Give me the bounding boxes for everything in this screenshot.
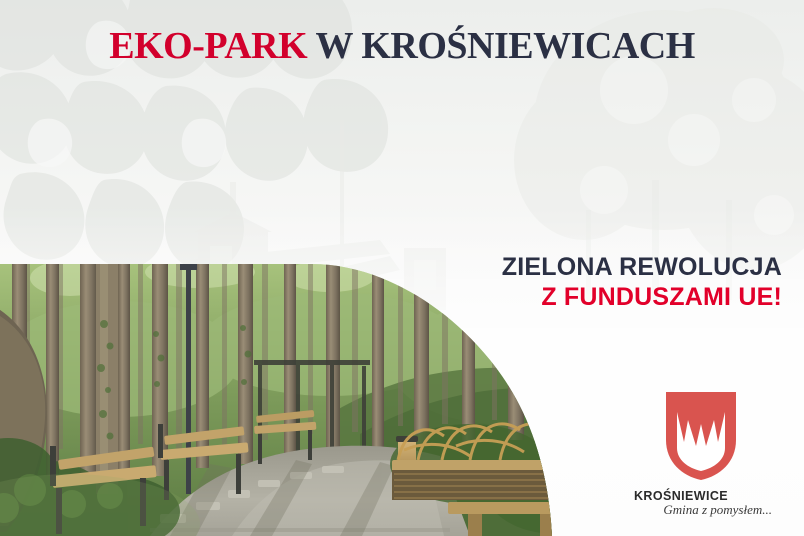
coat-of-arms-shield-icon xyxy=(626,390,776,482)
gmina-logo: KROŚNIEWICE Gmina z pomysłem... xyxy=(626,390,776,518)
subtitle-line-2: Z FUNDUSZAMI UE! xyxy=(502,283,782,313)
park-photo xyxy=(0,264,580,536)
park-photo-image xyxy=(0,264,580,536)
poster-canvas: EKO-PARK W KROŚNIEWICACH ZIELONA REWOLUC… xyxy=(0,0,804,536)
title-part-dark: W KROŚNIEWICACH xyxy=(307,25,695,67)
subtitle-block: ZIELONA REWOLUCJA Z FUNDUSZAMI UE! xyxy=(502,253,782,312)
subtitle-line-1: ZIELONA REWOLUCJA xyxy=(502,253,782,283)
page-title: EKO-PARK W KROŚNIEWICACH xyxy=(0,27,804,67)
title-part-red: EKO-PARK xyxy=(109,25,307,67)
logo-municipality-name: KROŚNIEWICE xyxy=(626,489,776,503)
logo-tagline: Gmina z pomysłem... xyxy=(626,502,776,518)
